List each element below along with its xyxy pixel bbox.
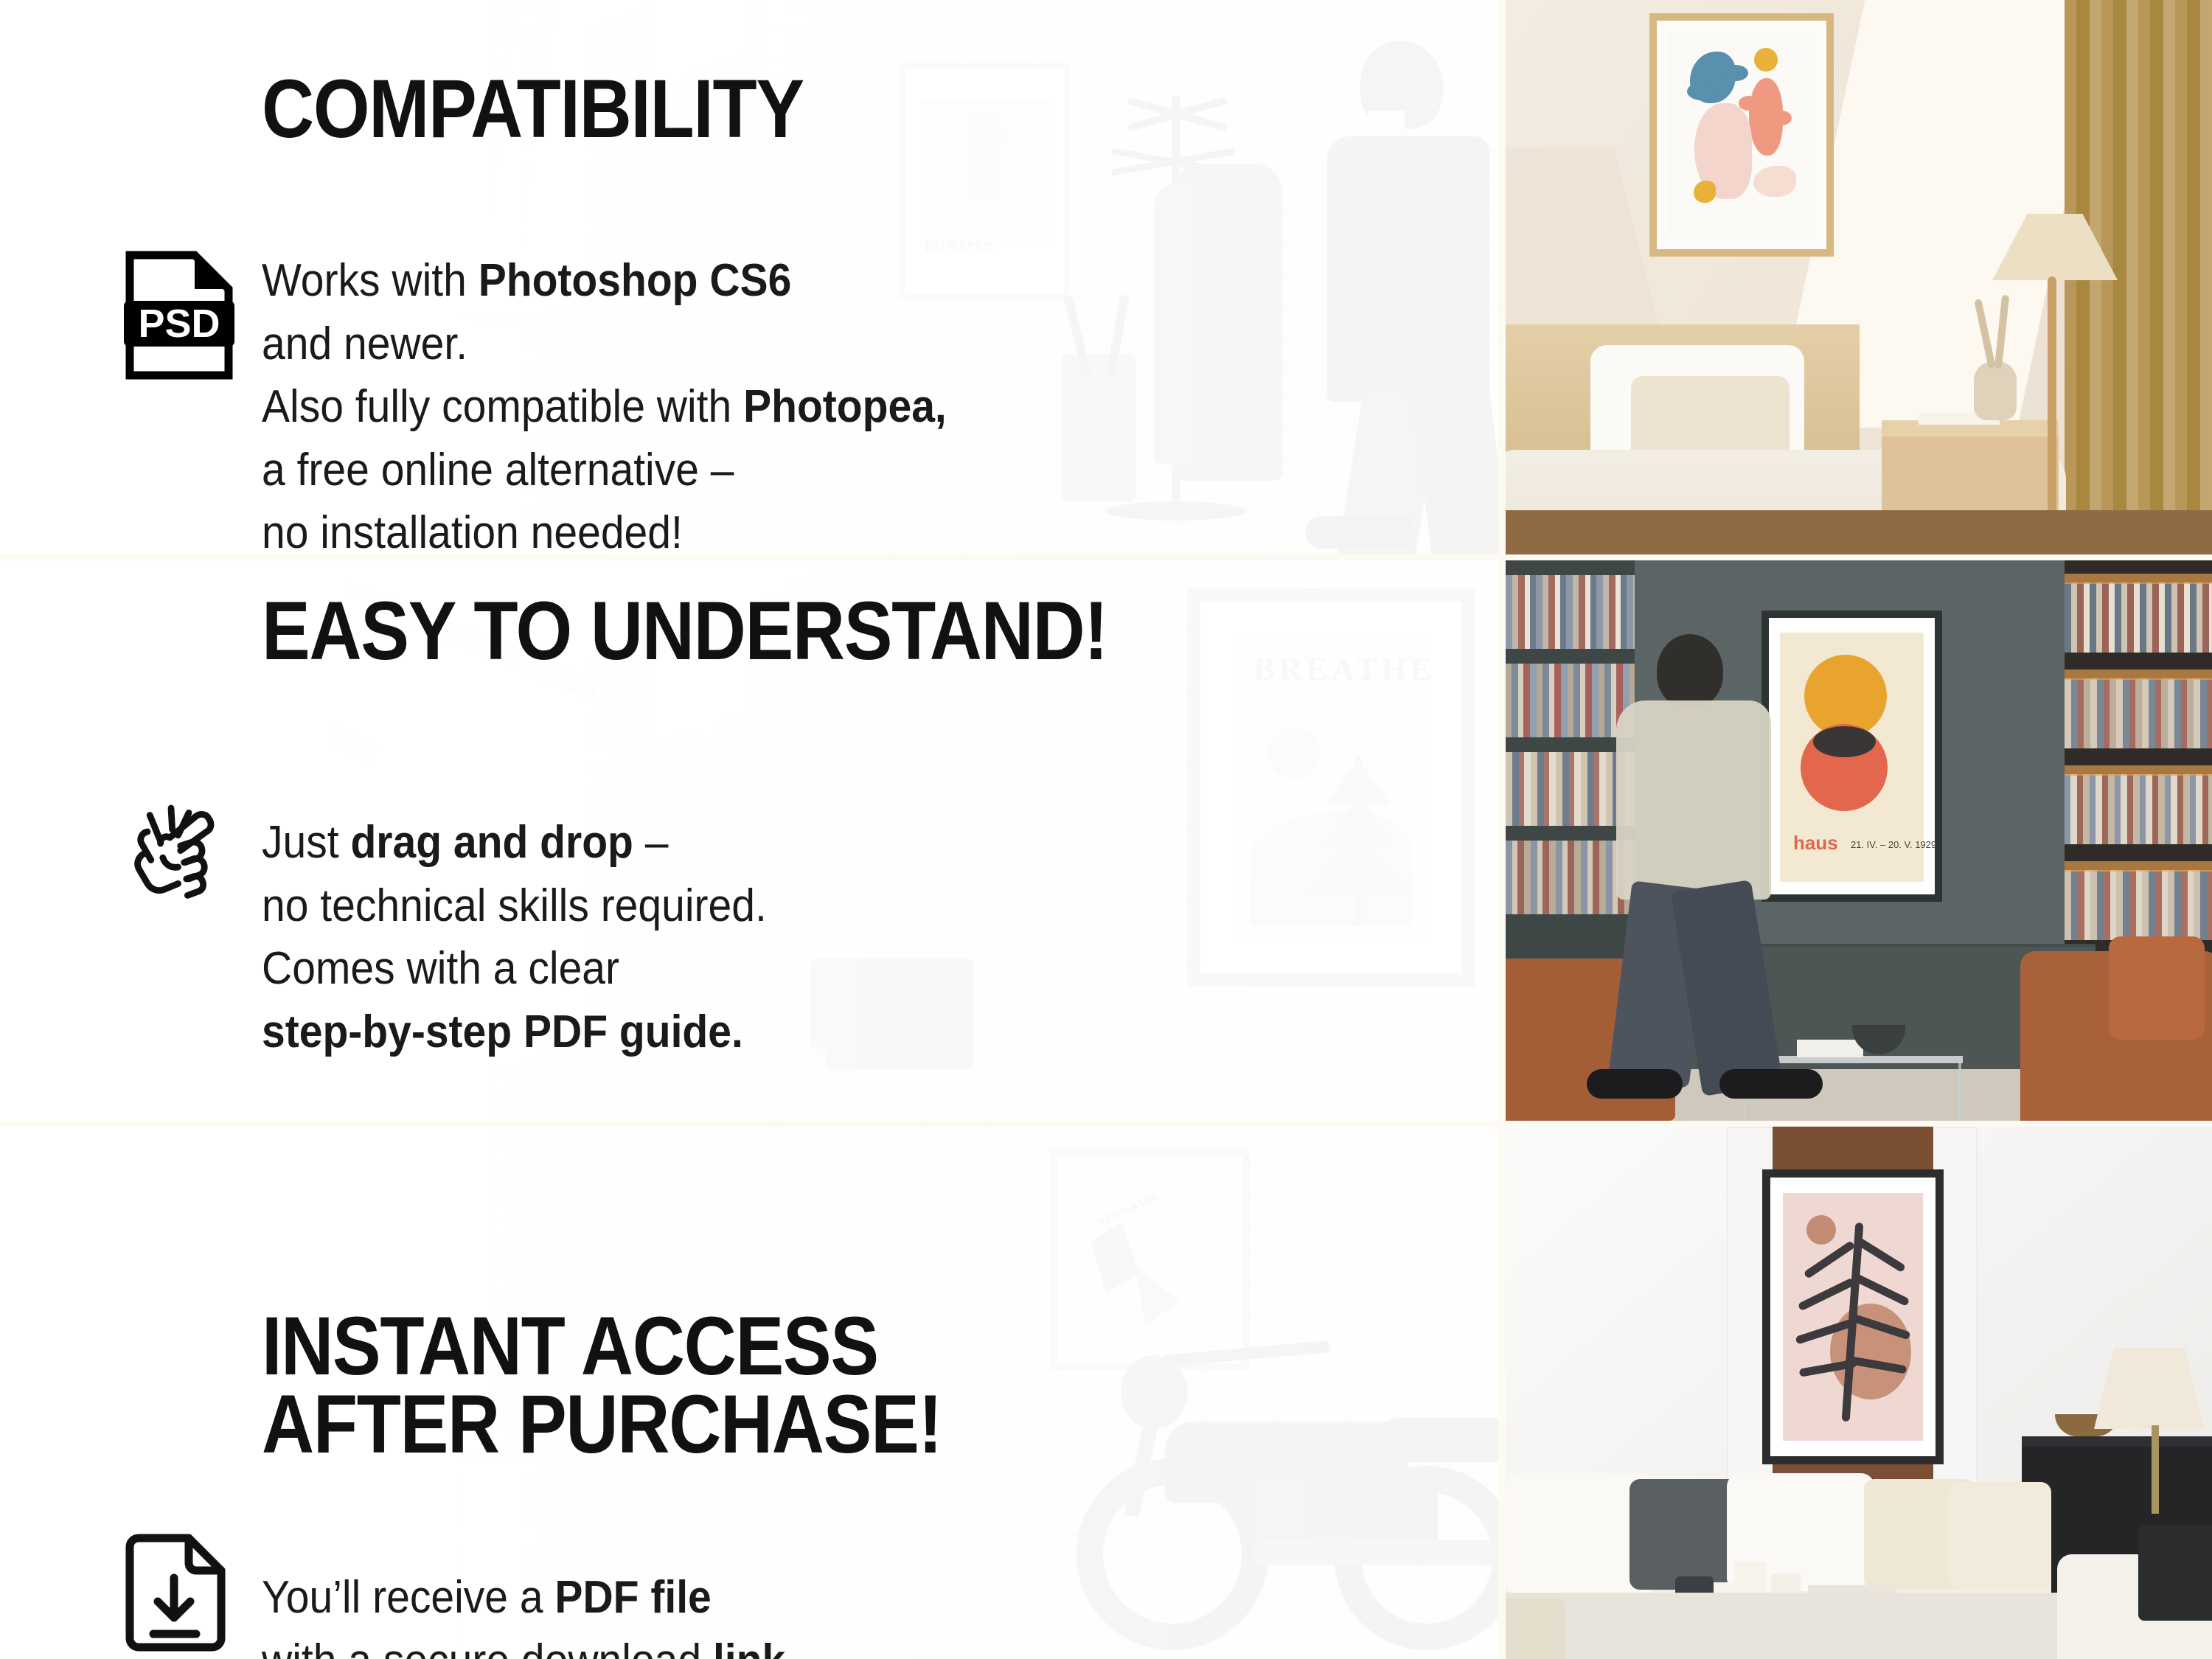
bedroom-scene [1506,0,2212,554]
section-instant-left-panel: NEUMATIK INSTANT ACCESS AFTER PURCHASE! [0,1127,1498,1659]
body-line: with a secure download link [262,1635,785,1659]
body-line: no technical skills required. [262,880,767,931]
section-easy-left-panel: BREATHE EASY TO UNDERSTAND! [0,560,1498,1121]
section-heading-line-2: AFTER PURCHASE! [262,1383,942,1466]
white-living-room-scene [1506,1127,2212,1659]
promo-page: EL-RAYES [0,0,2212,1659]
body-line: You’ll receive a PDF file [262,1572,712,1623]
file-download-icon [124,1532,227,1659]
section-instant-access: NEUMATIK INSTANT ACCESS AFTER PURCHASE! [0,1127,2212,1659]
section-body: You’ll receive a PDF file with a secure … [262,1566,785,1659]
section-heading: COMPATIBILITY [262,68,804,150]
body-line: Just drag and drop – [262,817,668,868]
instant-text-block: INSTANT ACCESS AFTER PURCHASE! You’ll re… [0,1127,811,1659]
body-line: and newer. [262,319,467,369]
section-easy-to-understand: BREATHE EASY TO UNDERSTAND! [0,560,2212,1121]
library-lounge-scene: haus 21. IV. – 20. V. 1929 [1506,560,2212,1121]
body-line: Also fully compatible with Photopea, [262,381,947,432]
section-body: Just drag and drop – no technical skills… [262,811,767,1063]
body-line: Comes with a clear [262,943,619,994]
section-heading: INSTANT ACCESS [262,1305,878,1388]
section-compatibility: EL-RAYES [0,0,2212,554]
body-line: a free online alternative – [262,445,734,495]
section-heading: EASY TO UNDERSTAND! [262,590,1107,672]
compatibility-text-block: COMPATIBILITY PSD Works with Photoshop C… [0,0,811,554]
psd-file-icon: PSD [124,251,234,383]
svg-text:PSD: PSD [138,302,220,346]
easy-text-block: EASY TO UNDERSTAND! [0,560,811,1121]
section-body: Works with Photoshop CS6 and newer. Also… [262,249,947,554]
body-line: Works with Photoshop CS6 [262,255,791,306]
body-line: step-by-step PDF guide. [262,1006,743,1057]
body-line: no installation needed! [262,507,683,554]
snapping-fingers-hand-icon [124,796,242,918]
section-compatibility-left-panel: EL-RAYES [0,0,1498,554]
